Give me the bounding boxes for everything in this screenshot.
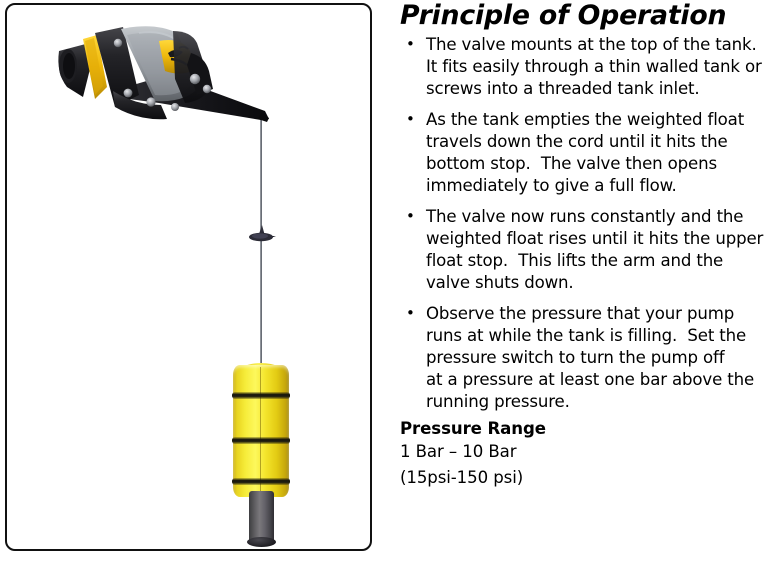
- pressure-range-block: Pressure Range 1 Bar – 10 Bar (15psi-150…: [400, 418, 760, 489]
- bullet-line: runs at while the tank is filling. Set t…: [426, 325, 768, 347]
- weighted-float-rod: [249, 491, 274, 543]
- list-item: The valve now runs constantly and the we…: [400, 206, 768, 294]
- bullet-line: immediately to give a full flow.: [426, 175, 768, 197]
- bullet-line: As the tank empties the weighted float: [426, 109, 768, 131]
- list-item: Observe the pressure that your pump runs…: [400, 303, 768, 413]
- pressure-range-title: Pressure Range: [400, 418, 760, 440]
- float-groove: [232, 437, 290, 444]
- upper-float-stop: [243, 223, 279, 247]
- valve-head: [55, 23, 285, 131]
- float-seam: [260, 367, 261, 495]
- float-groove: [232, 478, 290, 485]
- text-column: Principle of Operation The valve mounts …: [392, 0, 768, 571]
- page-title: Principle of Operation: [400, 1, 764, 31]
- bullet-line: float stop. This lifts the arm and the: [426, 250, 768, 272]
- weighted-float-rod-cap: [247, 537, 276, 547]
- bullet-line: bottom stop. The valve then opens: [426, 153, 768, 175]
- bullet-line: The valve mounts at the top of the tank.: [426, 34, 768, 56]
- page-root: Principle of Operation The valve mounts …: [0, 0, 768, 571]
- list-item: The valve mounts at the top of the tank.…: [400, 34, 768, 100]
- list-item: As the tank empties the weighted float t…: [400, 109, 768, 197]
- product-figure: [7, 5, 370, 549]
- bullet-line: It fits easily through a thin walled tan…: [426, 56, 768, 78]
- bullet-line: travels down the cord until it hits the: [426, 131, 768, 153]
- bullet-line: Observe the pressure that your pump: [426, 303, 768, 325]
- pressure-range-bar: 1 Bar – 10 Bar: [400, 440, 760, 463]
- bullet-line: The valve now runs constantly and the: [426, 206, 768, 228]
- weighted-float: [223, 365, 303, 550]
- principle-bullet-list: The valve mounts at the top of the tank.…: [392, 34, 768, 422]
- bullet-line: valve shuts down.: [426, 272, 768, 294]
- float-groove: [232, 392, 290, 399]
- bullet-line: screws into a threaded tank inlet.: [426, 78, 768, 100]
- bullet-line: weighted float rises until it hits the u…: [426, 228, 768, 250]
- pressure-range-psi: (15psi-150 psi): [400, 466, 760, 489]
- product-figure-frame: [5, 3, 372, 551]
- bullet-line: pressure switch to turn the pump off: [426, 347, 768, 369]
- cord: [260, 117, 262, 377]
- bullet-line: at a pressure at least one bar above the: [426, 369, 768, 391]
- bullet-line: running pressure.: [426, 391, 768, 413]
